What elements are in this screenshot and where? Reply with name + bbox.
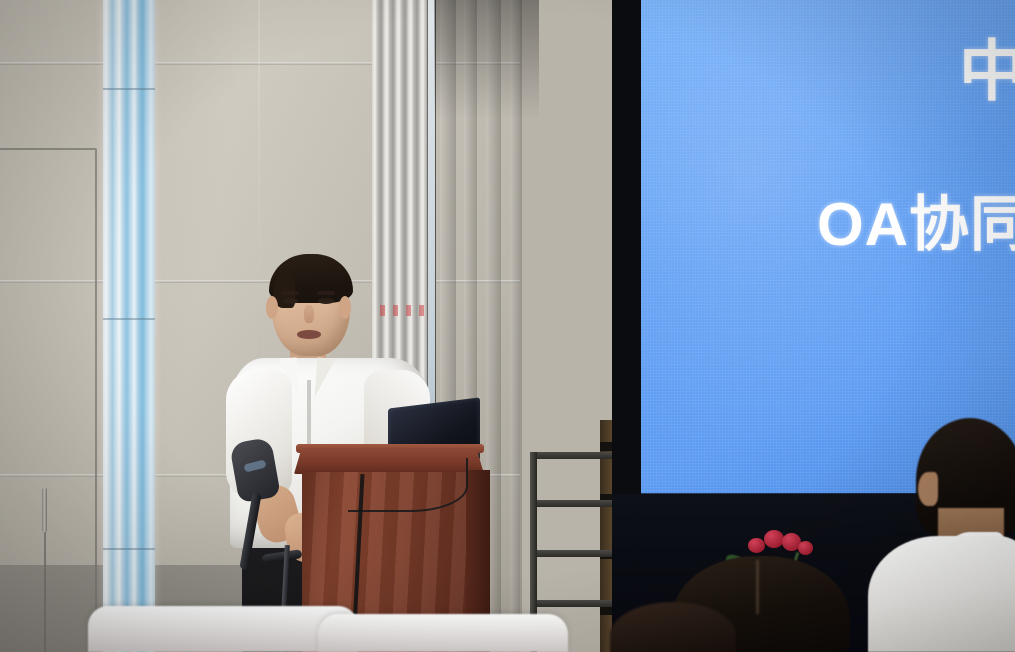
speaker-ear-left (266, 296, 278, 319)
door-frame[interactable] (0, 148, 97, 652)
slide-title-text: 中 (959, 18, 1015, 114)
column-joint (103, 88, 155, 90)
power-cable (348, 458, 468, 512)
speaker-eyebrow-right (317, 291, 335, 295)
audience-woman-hair-part (756, 560, 759, 614)
conference-photo-scene: 中 OA协同 (0, 0, 1015, 652)
speaker-eye-left (282, 298, 298, 304)
speaker-eye-right (318, 298, 334, 304)
speaker-nose (304, 305, 314, 323)
curtain-top-shadow (434, 0, 539, 120)
column-joint (103, 318, 155, 320)
door-handle[interactable] (42, 488, 47, 532)
column-joint (103, 548, 155, 550)
chair-arm (239, 492, 261, 570)
audience-man-shirt (868, 536, 1015, 652)
audience-man-ear (918, 472, 938, 506)
speaker-hair (269, 254, 353, 303)
speaker-mouth (297, 330, 321, 339)
foreground-chair-right[interactable] (318, 614, 568, 652)
chair-arm-lower (262, 549, 303, 563)
shirt-collar-left (279, 357, 300, 398)
speaker-ear-right (339, 296, 351, 319)
shirt-collar-right (315, 357, 336, 398)
door-push-bar (44, 530, 46, 652)
slide-subtitle-text: OA协同 (817, 176, 1015, 263)
bright-metal-column (103, 0, 155, 652)
speaker-eyebrow-left (281, 291, 299, 295)
